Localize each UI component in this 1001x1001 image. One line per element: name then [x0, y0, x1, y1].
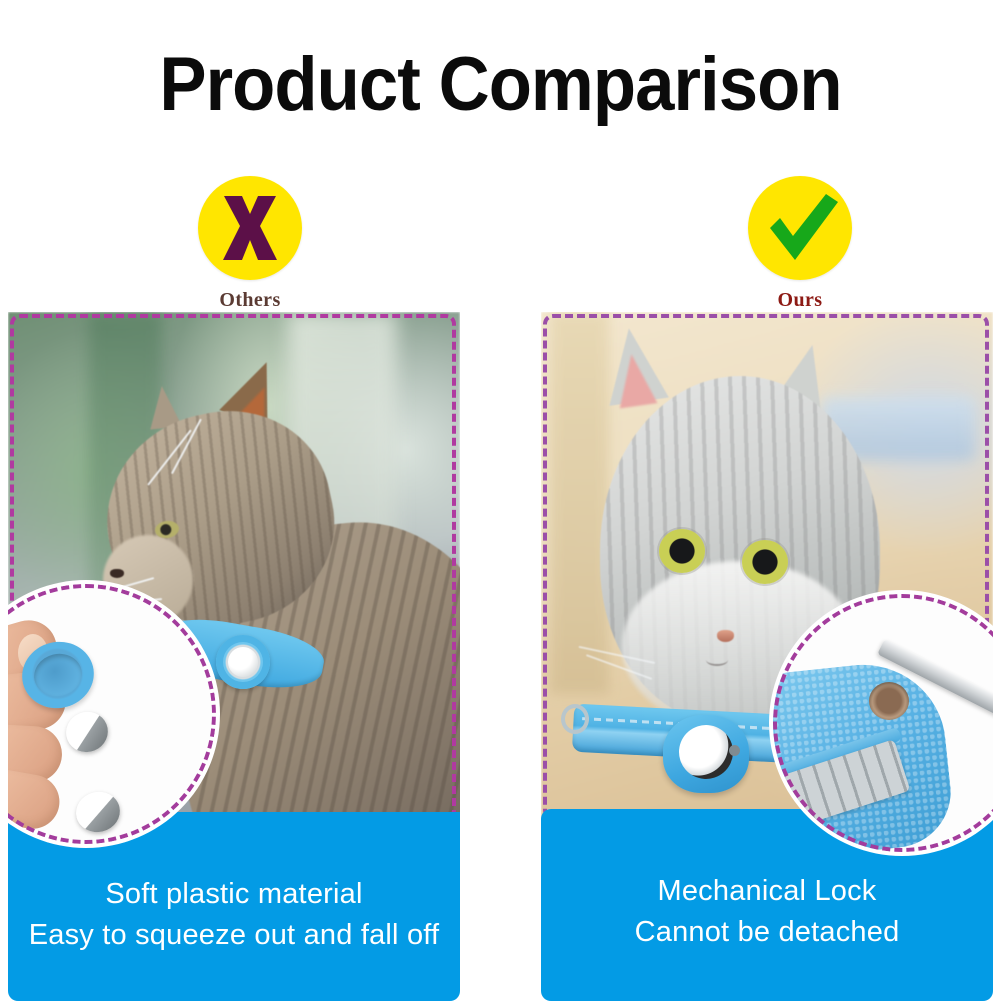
comparison-panel-ours: Mechanical Lock Cannot be detached: [541, 312, 993, 1001]
caption-others-line-2: Easy to squeeze out and fall off: [8, 915, 460, 956]
comparison-panel-others: Soft plastic material Easy to squeeze ou…: [8, 312, 460, 1001]
badge-others: Others: [170, 176, 330, 312]
badge-label-ours: Ours: [720, 288, 880, 312]
badge-ours: Ours: [720, 176, 880, 312]
caption-others-line-1: Soft plastic material: [8, 874, 460, 915]
page-title: Product Comparison: [35, 42, 966, 128]
inset-others: [8, 584, 216, 844]
caption-ours-line-2: Cannot be detached: [541, 912, 993, 953]
badge-label-others: Others: [170, 288, 330, 312]
check-mark-icon: [748, 176, 852, 280]
check-mark-badge-circle: [748, 176, 852, 280]
cross-mark-badge-circle: [198, 176, 302, 280]
cross-mark-icon: [198, 176, 302, 280]
inset-ours: [773, 594, 993, 852]
comparison-panels: Soft plastic material Easy to squeeze ou…: [0, 312, 1001, 1001]
caption-ours-line-1: Mechanical Lock: [541, 871, 993, 912]
